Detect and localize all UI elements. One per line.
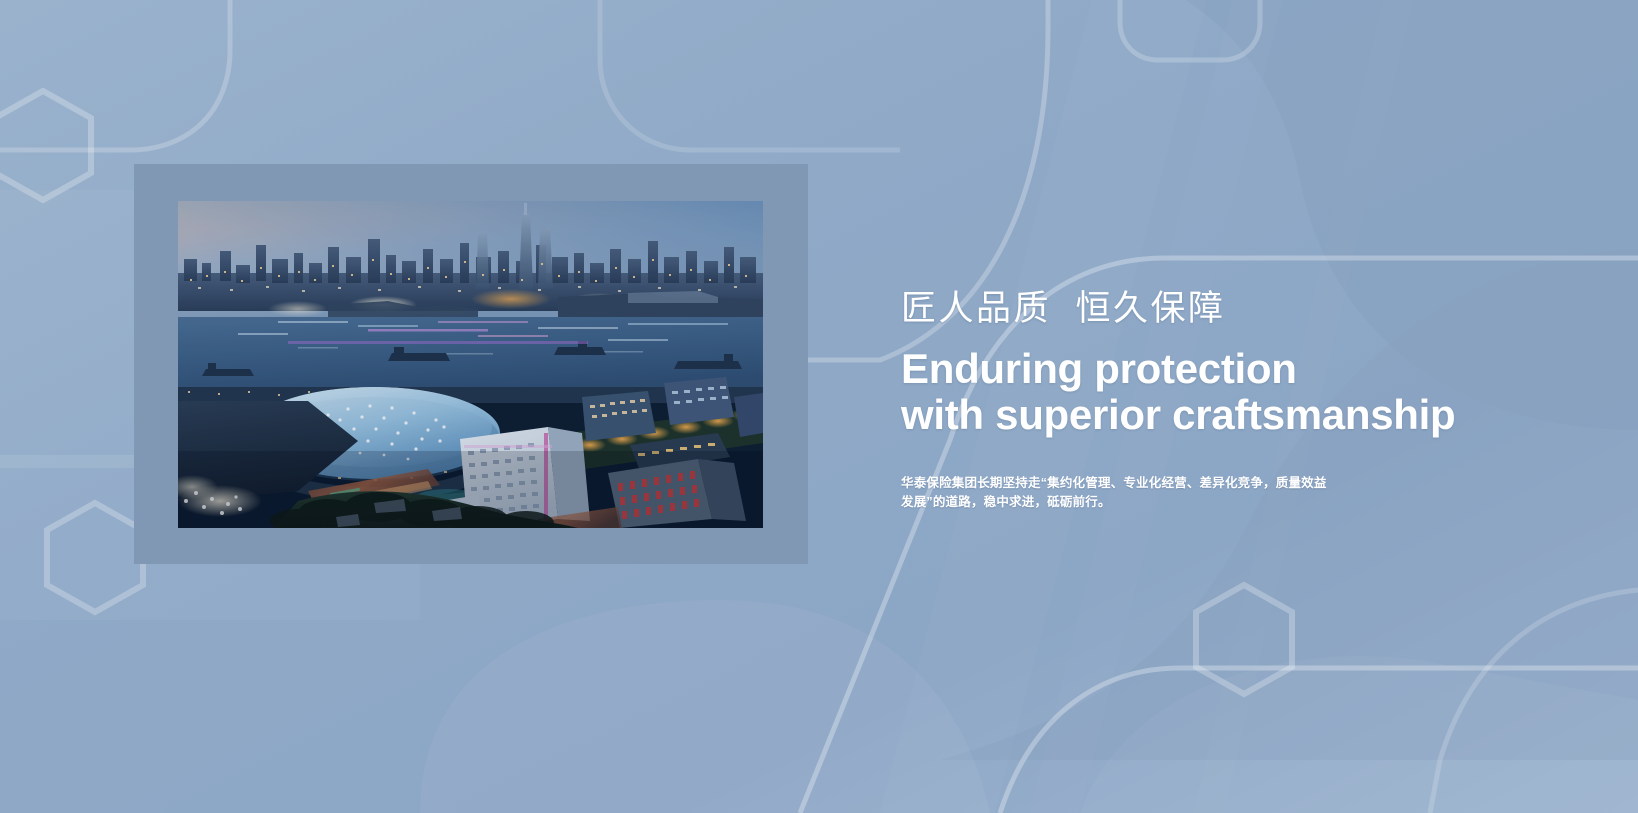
banner-description-line1: 华泰保险集团长期坚持走“集约化管理、专业化经营、差异化竞争，质量效益 bbox=[901, 476, 1327, 490]
banner-description: 华泰保险集团长期坚持走“集约化管理、专业化经营、差异化竞争，质量效益 发展”的道… bbox=[901, 474, 1379, 512]
headline-english: Enduring protection with superior crafts… bbox=[901, 346, 1541, 437]
cityscape-photo bbox=[178, 201, 763, 528]
banner-description-line2: 发展”的道路，稳中求进，砥砺前行。 bbox=[901, 493, 1379, 512]
headline-english-line1: Enduring protection bbox=[901, 345, 1297, 392]
banner-copy: 匠人品质 恒久保障 Enduring protection with super… bbox=[901, 288, 1541, 512]
headline-chinese: 匠人品质 恒久保障 bbox=[901, 288, 1541, 329]
banner-stage: 匠人品质 恒久保障 Enduring protection with super… bbox=[0, 0, 1638, 813]
photo-frame bbox=[134, 164, 808, 564]
headline-english-line2: with superior craftsmanship bbox=[901, 392, 1541, 437]
